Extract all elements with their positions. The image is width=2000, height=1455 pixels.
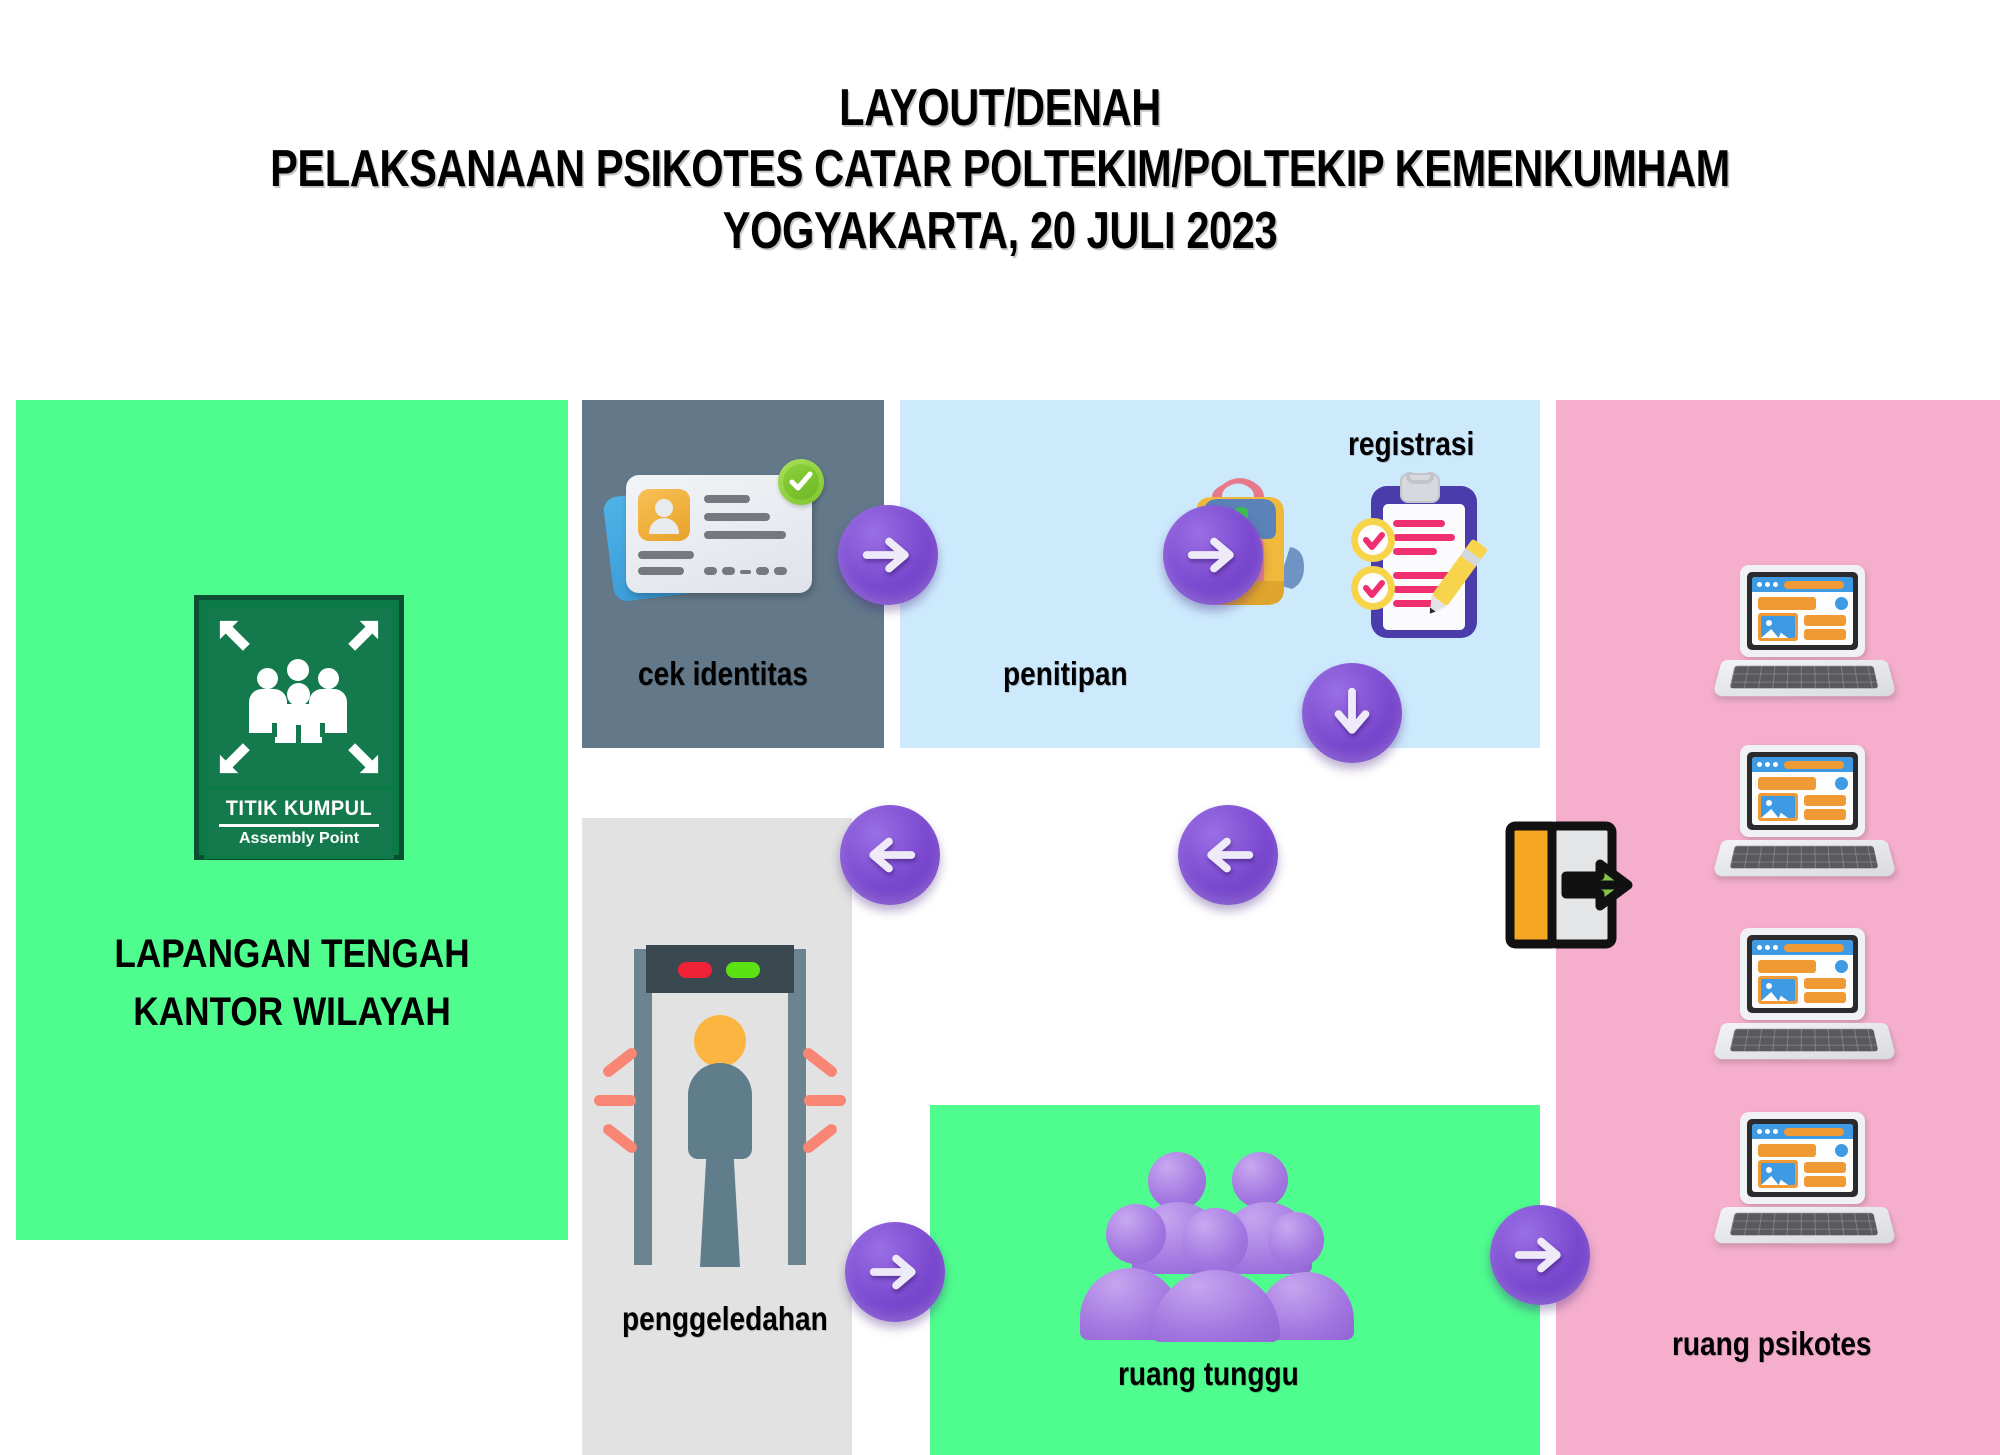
metal-detector-scanner-icon — [630, 945, 810, 1270]
assembly-point-sign: TITIK KUMPUL Assembly Point — [194, 595, 404, 860]
indicator-light-green — [726, 962, 760, 978]
assembly-point-title: TITIK KUMPUL — [215, 797, 382, 821]
workstation-laptop-3 — [1722, 928, 1887, 1063]
title-line-3: YOGYAKARTA, 20 JULI 2023 — [200, 201, 1800, 262]
page-title: LAYOUT/DENAH PELAKSANAAN PSIKOTES CATAR … — [0, 78, 2000, 262]
label-penitipan: penitipan — [1003, 655, 1128, 693]
arrow-inward-topleft-icon — [213, 614, 259, 660]
workstation-laptop-1 — [1722, 565, 1887, 700]
workstation-laptop-2 — [1722, 745, 1887, 880]
workstation-laptop-4 — [1722, 1112, 1887, 1247]
label-ruang-psikotes: ruang psikotes — [1672, 1325, 1872, 1363]
clipboard-registration-icon — [1345, 472, 1495, 650]
assembly-point-caption: TITIK KUMPUL Assembly Point — [204, 791, 394, 859]
lapangan-line-2: KANTOR WILAYAH — [49, 983, 535, 1041]
label-lapangan-tengah: LAPANGAN TENGAH KANTOR WILAYAH — [49, 925, 535, 1041]
label-registrasi: registrasi — [1348, 425, 1474, 463]
exit-door-icon — [1500, 820, 1650, 950]
lapangan-line-1: LAPANGAN TENGAH — [49, 925, 535, 983]
label-cek-identitas: cek identitas — [638, 655, 808, 693]
assembly-point-pictogram — [204, 605, 394, 789]
assembly-point-divider — [219, 824, 379, 827]
flow-arrow-left-to-penggeledahan[interactable] — [840, 805, 940, 905]
label-penggeledahan: penggeledahan — [622, 1300, 828, 1338]
label-ruang-tunggu: ruang tunggu — [1118, 1355, 1299, 1393]
indicator-light-red — [678, 962, 712, 978]
id-card-icon — [600, 465, 820, 610]
flow-arrow-right-geledah-to-tunggu[interactable] — [845, 1222, 945, 1322]
flow-arrow-left-back[interactable] — [1178, 805, 1278, 905]
verified-check-badge-icon — [778, 459, 824, 505]
people-group-icon — [239, 659, 359, 743]
assembly-point-subtitle: Assembly Point — [211, 830, 387, 848]
flow-arrow-down-registrasi[interactable] — [1302, 663, 1402, 763]
flow-arrow-right-tunggu-to-psikotes[interactable] — [1490, 1205, 1590, 1305]
flow-arrow-right-penitipan-to-registrasi[interactable] — [1163, 505, 1263, 605]
waiting-people-group-icon — [1080, 1140, 1390, 1360]
flow-arrow-right-cek-to-penitipan[interactable] — [838, 505, 938, 605]
title-line-1: LAYOUT/DENAH — [200, 78, 1800, 139]
arrow-inward-topright-icon — [339, 614, 385, 660]
title-line-2: PELAKSANAAN PSIKOTES CATAR POLTEKIM/POLT… — [200, 139, 1800, 200]
